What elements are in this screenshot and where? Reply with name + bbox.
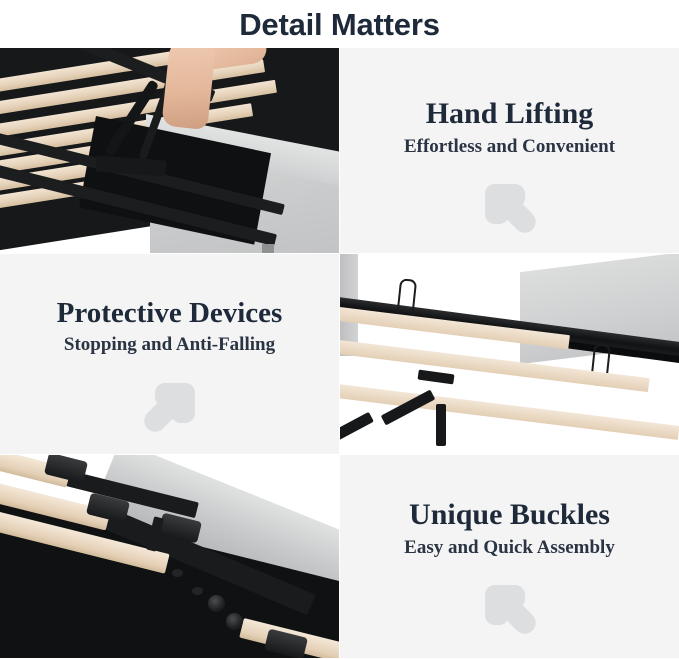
panel-subtitle: Easy and Quick Assembly [404, 538, 615, 559]
panel-subtitle: Stopping and Anti-Falling [64, 335, 275, 356]
buckle-bolt [208, 595, 225, 612]
hand-lifting-photo [0, 48, 339, 253]
arrow-up-left-icon [474, 173, 546, 245]
page-title: Detail Matters [239, 9, 440, 40]
panel-subtitle: Effortless and Convenient [404, 137, 615, 158]
panel-heading: Hand Lifting [426, 98, 594, 130]
panel-protective-devices: Protective Devices Stopping and Anti-Fal… [0, 254, 339, 454]
panel-heading: Protective Devices [57, 298, 283, 328]
panel-heading: Unique Buckles [409, 499, 610, 531]
mounting-hole [192, 587, 203, 595]
feature-grid: Hand Lifting Effortless and Convenient P… [0, 48, 679, 659]
panel-hand-lifting: Hand Lifting Effortless and Convenient [340, 48, 679, 253]
arrow-up-left-icon [474, 574, 546, 646]
panel-unique-buckles: Unique Buckles Easy and Quick Assembly [340, 455, 679, 658]
arrow-up-right-icon [134, 372, 206, 444]
bed-foot [262, 244, 274, 253]
mounting-hole [172, 569, 183, 577]
center-leg [436, 404, 446, 446]
protective-devices-photo [340, 254, 679, 454]
unique-buckles-photo [0, 455, 339, 658]
buckle-bolt [226, 613, 243, 630]
page-title-bar: Detail Matters [0, 0, 679, 48]
infographic-page: Detail Matters [0, 0, 679, 659]
